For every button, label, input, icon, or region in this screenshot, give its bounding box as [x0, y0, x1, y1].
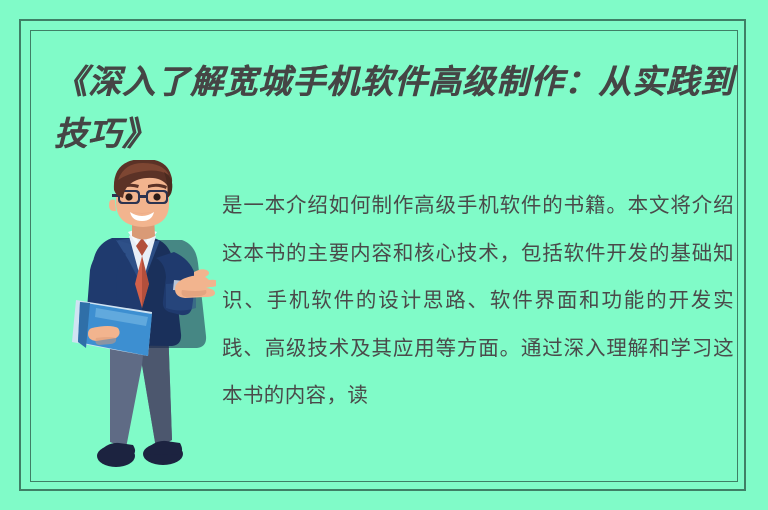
- page-title: 《深入了解宽城手机软件高级制作：从实践到技巧》: [54, 56, 754, 160]
- body-paragraph: 是一本介绍如何制作高级手机软件的书籍。本文将介绍这本书的主要内容和核心技术，包括…: [222, 182, 734, 478]
- book-intro-card: 《深入了解宽城手机软件高级制作：从实践到技巧》: [0, 0, 768, 510]
- businessman-presenting-icon: [56, 160, 216, 490]
